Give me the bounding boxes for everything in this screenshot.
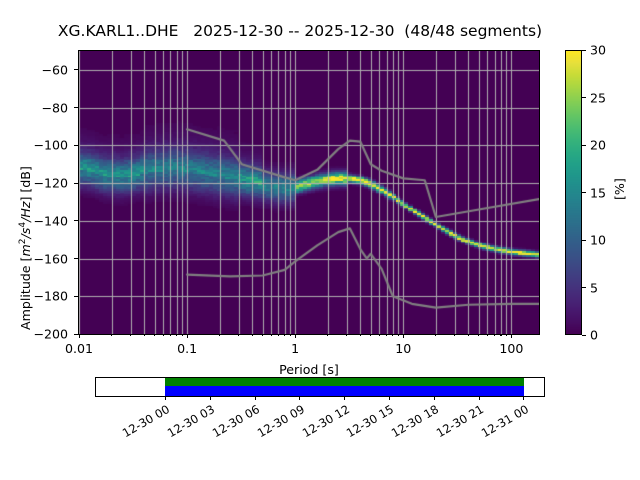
x-axis-minor-tick-mark <box>360 334 361 336</box>
colorbar-tick-mark <box>582 50 586 51</box>
colorbar-tick-mark <box>582 192 586 193</box>
x-axis-minor-tick-mark <box>379 334 380 336</box>
x-axis-minor-tick-mark <box>500 334 501 336</box>
y-axis-tick-mark <box>74 183 78 184</box>
y-axis-tick-mark <box>74 107 78 108</box>
x-axis-minor-tick-mark <box>252 334 253 336</box>
colorbar-gradient <box>566 51 581 334</box>
x-axis-minor-tick-mark <box>238 334 239 336</box>
x-axis-tick-label: 0.1 <box>177 341 197 356</box>
x-axis-minor-tick-mark <box>262 334 263 336</box>
y-axis-tick-mark <box>74 334 78 335</box>
x-axis-minor-tick-mark <box>170 334 171 336</box>
timeline-tick-mark <box>299 396 300 400</box>
y-axis-tick-mark <box>74 69 78 70</box>
x-axis-major-tick-mark <box>295 334 296 338</box>
timeline-tick-mark <box>434 396 435 400</box>
colorbar-tick-label: 0 <box>590 328 598 343</box>
y-axis-tick-label: −120 <box>8 176 68 191</box>
x-axis-minor-tick-mark <box>478 334 479 336</box>
colorbar-label: [%] <box>612 178 627 200</box>
ppsd-figure: XG.KARL1..DHE 2025-12-30 -- 2025-12-30 (… <box>0 0 640 480</box>
x-axis-minor-tick-mark <box>494 334 495 336</box>
y-axis-tick-label: −180 <box>8 289 68 304</box>
timeline-tick-mark <box>165 396 166 400</box>
y-axis-label: Amplitude [m2/s4/Hz] [dB] <box>18 166 33 330</box>
y-axis-tick-label: −80 <box>8 100 68 115</box>
colorbar-tick-mark <box>582 145 586 146</box>
colorbar-tick-label: 10 <box>590 233 606 248</box>
timeline-tick-mark <box>344 396 345 400</box>
x-axis-minor-tick-mark <box>386 334 387 336</box>
x-axis-minor-tick-mark <box>290 334 291 336</box>
y-axis-tick-mark <box>74 296 78 297</box>
x-axis-tick-label: 0.01 <box>65 341 93 356</box>
x-axis-tick-label: 100 <box>499 341 523 356</box>
x-axis-minor-tick-mark <box>111 334 112 336</box>
x-axis-minor-tick-mark <box>271 334 272 336</box>
x-axis-minor-tick-mark <box>182 334 183 336</box>
colorbar-tick-label: 25 <box>590 90 606 105</box>
x-axis-minor-tick-mark <box>392 334 393 336</box>
colorbar-tick-label: 5 <box>590 280 598 295</box>
x-axis-minor-tick-mark <box>435 334 436 336</box>
data-coverage-timeline[interactable] <box>95 377 545 397</box>
x-axis-major-tick-mark <box>79 334 80 338</box>
x-axis-major-tick-mark <box>187 334 188 338</box>
x-axis-minor-tick-mark <box>468 334 469 336</box>
x-axis-minor-tick-mark <box>130 334 131 336</box>
x-axis-minor-tick-mark <box>163 334 164 336</box>
y-axis-tick-label: −200 <box>8 327 68 342</box>
timeline-tick-mark <box>479 396 480 400</box>
x-axis-minor-tick-mark <box>454 334 455 336</box>
y-axis-tick-mark <box>74 258 78 259</box>
colorbar-tick-mark <box>582 97 586 98</box>
ppsd-plot-area[interactable] <box>78 50 540 335</box>
x-axis-minor-tick-mark <box>346 334 347 336</box>
timeline-tick-mark <box>255 396 256 400</box>
x-axis-minor-tick-mark <box>176 334 177 336</box>
x-axis-minor-tick-mark <box>487 334 488 336</box>
x-axis-minor-tick-mark <box>144 334 145 336</box>
x-axis-minor-tick-mark <box>370 334 371 336</box>
x-axis-tick-label: 10 <box>395 341 411 356</box>
colorbar-tick-mark <box>582 335 586 336</box>
x-axis-tick-label: 1 <box>291 341 299 356</box>
x-axis-minor-tick-mark <box>284 334 285 336</box>
timeline-tick-mark <box>523 396 524 400</box>
y-axis-tick-label: −140 <box>8 213 68 228</box>
x-axis-major-tick-mark <box>403 334 404 338</box>
plot-title: XG.KARL1..DHE 2025-12-30 -- 2025-12-30 (… <box>0 22 600 40</box>
x-axis-minor-tick-mark <box>398 334 399 336</box>
y-axis-tick-mark <box>74 220 78 221</box>
x-axis-minor-tick-mark <box>327 334 328 336</box>
coverage-band-blue <box>165 386 523 396</box>
x-axis-minor-tick-mark <box>154 334 155 336</box>
x-axis-minor-tick-mark <box>219 334 220 336</box>
noise-model-overlay <box>79 51 539 334</box>
x-axis-label: Period [s] <box>78 362 540 377</box>
coverage-band-green <box>165 378 523 386</box>
y-axis-tick-label: −60 <box>8 62 68 77</box>
colorbar[interactable] <box>565 50 582 335</box>
timeline-tick-mark <box>389 396 390 400</box>
colorbar-tick-label: 20 <box>590 138 606 153</box>
colorbar-tick-mark <box>582 240 586 241</box>
y-axis-tick-label: −100 <box>8 138 68 153</box>
x-axis-minor-tick-mark <box>278 334 279 336</box>
colorbar-tick-label: 15 <box>590 185 606 200</box>
x-axis-minor-tick-mark <box>506 334 507 336</box>
y-axis-tick-label: −160 <box>8 251 68 266</box>
colorbar-tick-label: 30 <box>590 43 606 58</box>
y-axis-tick-mark <box>74 145 78 146</box>
x-axis-major-tick-mark <box>511 334 512 338</box>
timeline-tick-mark <box>210 396 211 400</box>
colorbar-tick-mark <box>582 287 586 288</box>
